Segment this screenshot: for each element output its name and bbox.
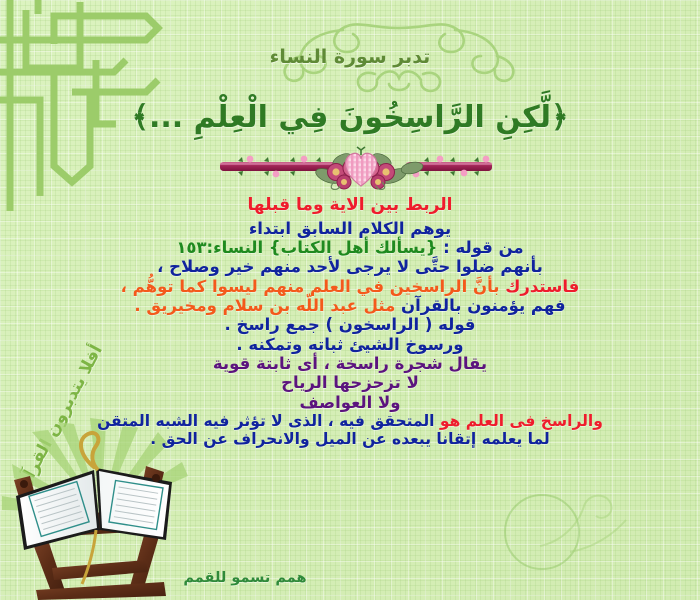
poster-canvas: تدبر سورة النساء ﴿لَّكِنِ الرَّاسِخُونَ …	[0, 0, 700, 600]
body-segment: من قوله :	[437, 238, 523, 257]
body-segment: لا تزحزحها الرياح	[281, 373, 419, 392]
body-segment: لما يعلمه إتقانا يبعده عن الميل والانحرا…	[150, 430, 549, 448]
body-segment: فهم يؤمنون بالقرآن	[395, 296, 565, 315]
body-line: قوله ( الراسخون ) جمع راسخ .	[0, 315, 700, 334]
body-line: فهم يؤمنون بالقرآن مثل عبد اللّه بن سلام…	[0, 296, 700, 315]
body-segment: المتحقق فيه ، الذى لا تؤثر فيه الشبه الم…	[97, 412, 434, 430]
body-segment: والراسخ فى العلم هو	[435, 412, 603, 430]
body-line: لا تزحزحها الرياح	[0, 373, 700, 392]
body-heading: الربط بين الاية وما قبلها	[0, 196, 700, 216]
body-segment: {يسألك أهل الكتاب} النساء:١٥٣	[176, 238, 437, 257]
body-segment: فاستدرك	[499, 277, 579, 296]
body-segment: يوهم الكلام السابق ابتداء	[249, 219, 451, 238]
body-line: لما يعلمه إتقانا يبعده عن الميل والانحرا…	[0, 430, 700, 448]
body-segment: ورسوخ الشيئ ثباته وتمكنه .	[236, 335, 463, 354]
corner-swirl-decor-icon	[530, 486, 640, 556]
body-segment: قوله ( الراسخون ) جمع راسخ .	[225, 315, 476, 334]
body-segment: يقال شجرة راسخة ، أى ثابتة قوية	[213, 354, 487, 373]
footer-tagline: همم تسمو للقمم	[130, 570, 360, 586]
body-line: يقال شجرة راسخة ، أى ثابتة قوية	[0, 354, 700, 373]
body-text-block: الربط بين الاية وما قبلها يوهم الكلام ال…	[0, 196, 700, 448]
body-line: ولا العواصف	[0, 393, 700, 412]
body-line: يوهم الكلام السابق ابتداء	[0, 219, 700, 238]
body-line: من قوله : {يسألك أهل الكتاب} النساء:١٥٣	[0, 238, 700, 257]
body-lines-container: يوهم الكلام السابق ابتداءمن قوله : {يسأل…	[0, 219, 700, 448]
body-line: والراسخ فى العلم هو المتحقق فيه ، الذى ل…	[0, 412, 700, 430]
body-segment: بأنَّ الراسخين في العلم منهم ليسوا كما ت…	[121, 277, 500, 296]
body-line: بأنهم ضلوا حتَّى لا يرجى لأحد منهم خير و…	[0, 257, 700, 276]
body-line: فاستدرك بأنَّ الراسخين في العلم منهم ليس…	[0, 277, 700, 296]
poster-title: تدبر سورة النساء	[0, 46, 700, 68]
body-segment: مثل عبد اللّه بن سلام ومخيريق .	[134, 296, 395, 315]
body-line: ورسوخ الشيئ ثباته وتمكنه .	[0, 335, 700, 354]
body-segment: ولا العواصف	[299, 393, 400, 412]
poster-verse: ﴿لَّكِنِ الرَّاسِخُونَ فِي الْعِلْمِ ...…	[0, 100, 700, 135]
body-segment: بأنهم ضلوا حتَّى لا يرجى لأحد منهم خير و…	[157, 257, 543, 276]
floral-divider-ornament-icon	[216, 146, 496, 190]
